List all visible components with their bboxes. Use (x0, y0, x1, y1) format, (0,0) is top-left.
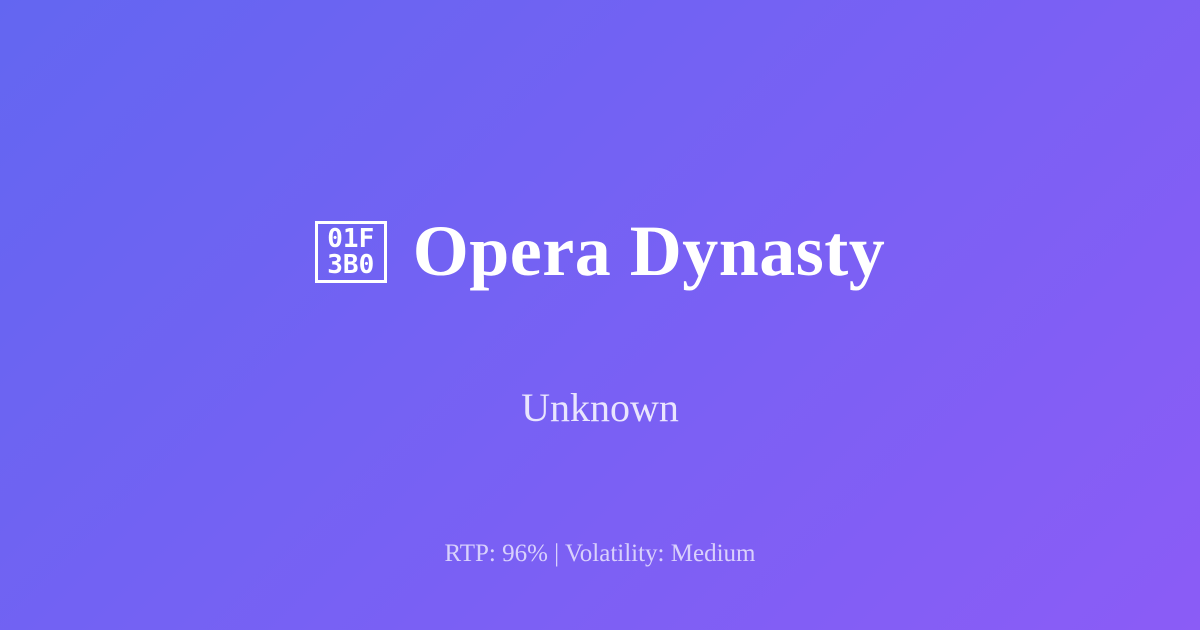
game-title: Opera Dynasty (413, 214, 886, 290)
title-row: 01F 3B0 Opera Dynasty (315, 165, 886, 337)
game-meta-line: RTP: 96% | Volatility: Medium (0, 540, 1200, 568)
game-promo-card: 01F 3B0 Opera Dynasty Unknown RTP: 96% |… (0, 0, 1200, 630)
hero-block: 01F 3B0 Opera Dynasty Unknown (0, 0, 1200, 630)
slot-machine-icon: 01F 3B0 (315, 221, 387, 283)
tofu-codepoint-bottom: 3B0 (327, 252, 374, 278)
game-provider-subtitle: Unknown (521, 384, 679, 431)
tofu-codepoint-top: 01F (327, 226, 374, 252)
